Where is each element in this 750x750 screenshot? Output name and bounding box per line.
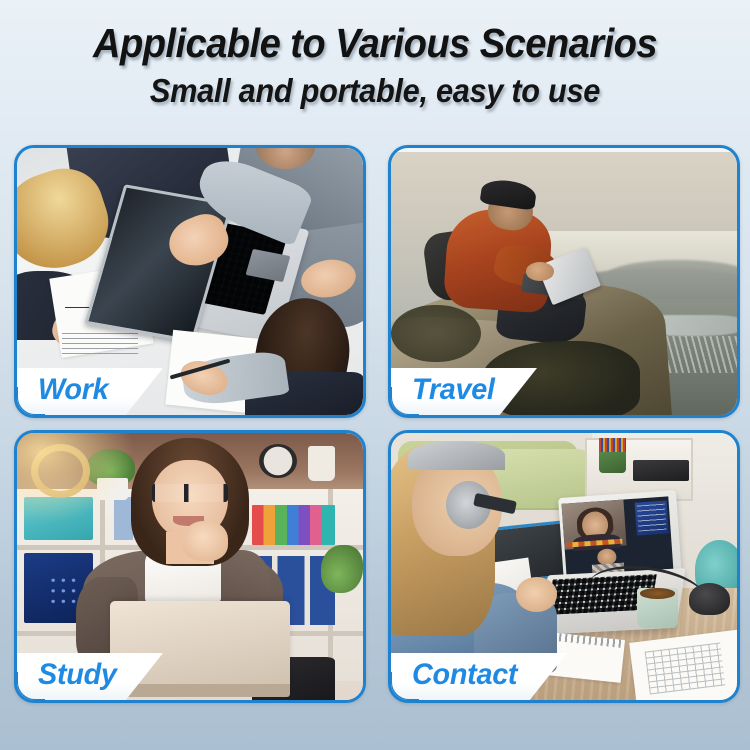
page-title: Applicable to Various Scenarios [26,18,724,68]
scenario-card-travel[interactable]: Travel [388,145,740,418]
header-block: Applicable to Various Scenarios Small an… [0,18,750,112]
page-subtitle: Small and portable, easy to use [26,70,724,112]
scenario-card-study[interactable]: Study [14,430,366,703]
scenario-card-work[interactable]: Work [14,145,366,418]
promo-banner: Applicable to Various Scenarios Small an… [0,0,750,750]
scenario-card-contact[interactable]: Contact [388,430,740,703]
